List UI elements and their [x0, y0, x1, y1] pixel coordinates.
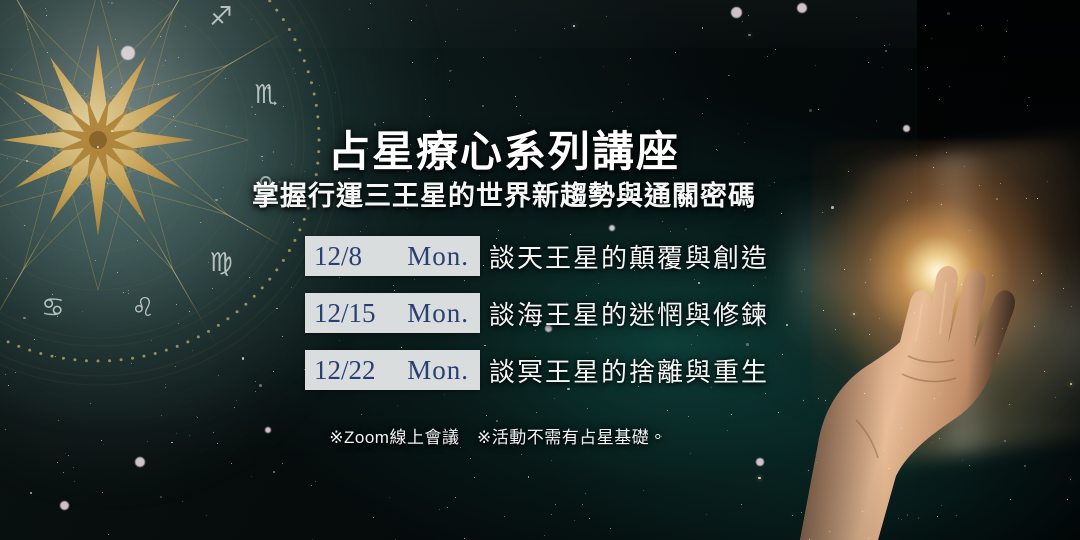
session-weekday: Mon. [407, 357, 469, 384]
session-date-chip: 12/8 Mon. [305, 236, 480, 276]
footnote-text: ※Zoom線上會議 ※活動不需有占星基礎。 [329, 428, 666, 447]
session-topic: 談冥王星的捨離與重生 [489, 352, 769, 389]
session-date: 12/22 [314, 357, 392, 384]
session-topic: 談海王星的迷惘與修鍊 [489, 295, 769, 332]
session-weekday: Mon. [407, 243, 469, 270]
banner-content: 占星療心系列講座 掌握行運三王星的世界新趨勢與通關密碼 12/8 Mon. 談天… [0, 0, 1080, 540]
list-item: 12/22 Mon. 談冥王星的捨離與重生 [305, 350, 769, 390]
list-item: 12/15 Mon. 談海王星的迷惘與修鍊 [305, 293, 769, 333]
footnote: ※Zoom線上會議 ※活動不需有占星基礎。 [0, 423, 1080, 448]
session-date: 12/8 [314, 243, 378, 270]
schedule-list: 12/8 Mon. 談天王星的顛覆與創造 12/15 Mon. 談海王星的迷惘與… [305, 236, 769, 390]
page-title: 占星療心系列講座 [0, 118, 1080, 179]
session-date-chip: 12/22 Mon. [305, 350, 480, 390]
session-topic: 談天王星的顛覆與創造 [489, 238, 769, 275]
astrology-lecture-banner: ♑♐♏♎♍♌♋♊♉♈♓♒ [0, 0, 1080, 540]
page-subtitle: 掌握行運三王星的世界新趨勢與通關密碼 [0, 174, 1080, 213]
session-date-chip: 12/15 Mon. [305, 293, 480, 333]
session-date: 12/15 [314, 300, 392, 327]
list-item: 12/8 Mon. 談天王星的顛覆與創造 [305, 236, 769, 276]
session-weekday: Mon. [407, 300, 469, 327]
